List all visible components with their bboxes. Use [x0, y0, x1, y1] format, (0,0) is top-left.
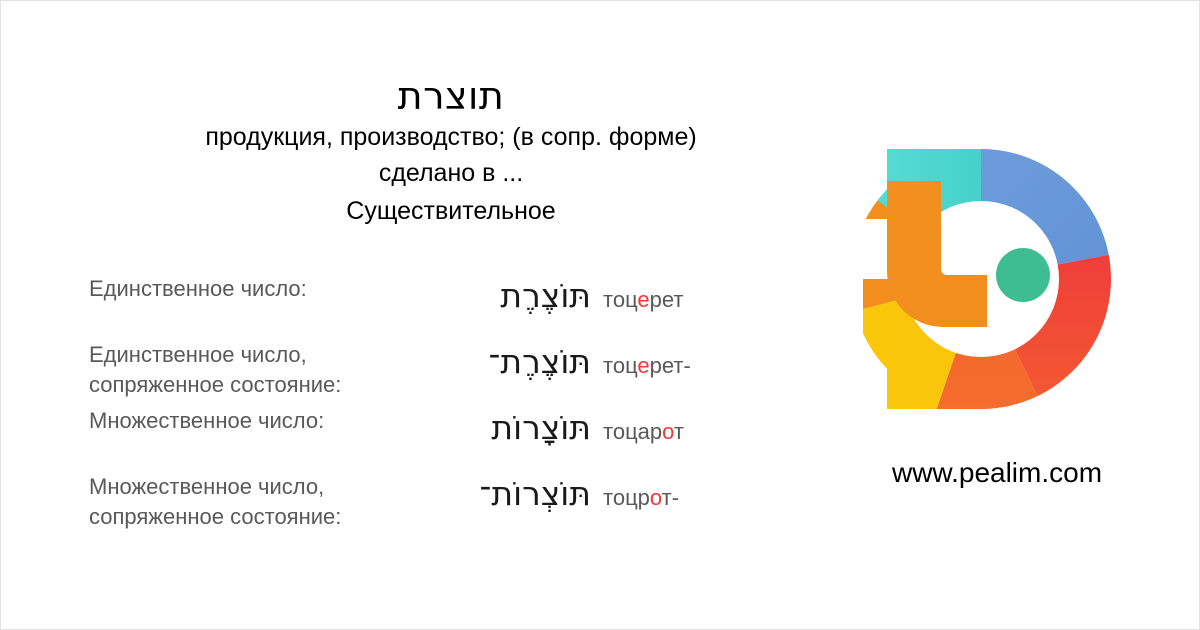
meaning-line-2: сделано в ...: [1, 155, 901, 191]
row-form: תּוֹצָרוֹת тоцарот: [439, 406, 789, 454]
hebrew-form: תּוֹצְרוֹת־: [439, 472, 591, 516]
hebrew-form: תּוֹצָרוֹת: [439, 406, 591, 450]
table-row: Единственное число, сопряженное состояни…: [89, 340, 789, 406]
row-label: Множественное число:: [89, 406, 434, 436]
pealim-pe-logo-icon: [863, 119, 1131, 409]
site-url[interactable]: www.pealim.com: [863, 453, 1131, 493]
hebrew-form: תּוֹצֶרֶת: [439, 274, 591, 318]
row-label: Единственное число, сопряженное состояни…: [89, 340, 434, 400]
row-form: תּוֹצְרוֹת־ тоцрот-: [439, 472, 789, 520]
translit-pre: тоцар: [603, 419, 662, 444]
translit-post: рет: [650, 287, 684, 312]
table-row: Множественное число, сопряженное состоян…: [89, 472, 789, 538]
meaning-line-1: продукция, производство; (в сопр. форме): [1, 119, 901, 155]
translit-post: т-: [662, 485, 679, 510]
translit-stress: о: [662, 419, 674, 444]
translit-stress: е: [637, 287, 649, 312]
transliteration: тоцерет: [603, 278, 684, 322]
translit-pre: тоц: [603, 353, 637, 378]
part-of-speech: Существительное: [1, 193, 901, 229]
page-title-hebrew: תוצרת: [1, 73, 901, 119]
translit-pre: тоц: [603, 287, 637, 312]
row-label: Единственное число:: [89, 274, 434, 304]
transliteration: тоцарот: [603, 410, 684, 454]
table-row: Единственное число: תּוֹצֶרֶת тоцерет: [89, 274, 789, 340]
pealim-logo: [863, 119, 1131, 409]
row-form: תּוֹצֶרֶת тоцерет: [439, 274, 789, 322]
logo-dot-icon: [996, 248, 1050, 302]
row-label: Множественное число, сопряженное состоян…: [89, 472, 434, 532]
translit-stress: е: [637, 353, 649, 378]
transliteration: тоцрот-: [603, 476, 679, 520]
translit-pre: тоцр: [603, 485, 650, 510]
pealim-word-card: תוצרת продукция, производство; (в сопр. …: [0, 0, 1200, 630]
row-form: תּוֹצֶרֶת־ тоцерет-: [439, 340, 789, 388]
card-header: תוצרת продукция, производство; (в сопр. …: [1, 73, 901, 229]
hebrew-form: תּוֹצֶרֶת־: [439, 340, 591, 384]
translit-post: т: [674, 419, 684, 444]
table-row: Множественное число: תּוֹצָרוֹת тоцарот: [89, 406, 789, 472]
transliteration: тоцерет-: [603, 344, 691, 388]
inflection-table: Единственное число: תּוֹצֶרֶת тоцерет Ед…: [89, 274, 789, 538]
translit-stress: о: [650, 485, 662, 510]
translit-post: рет-: [650, 353, 691, 378]
